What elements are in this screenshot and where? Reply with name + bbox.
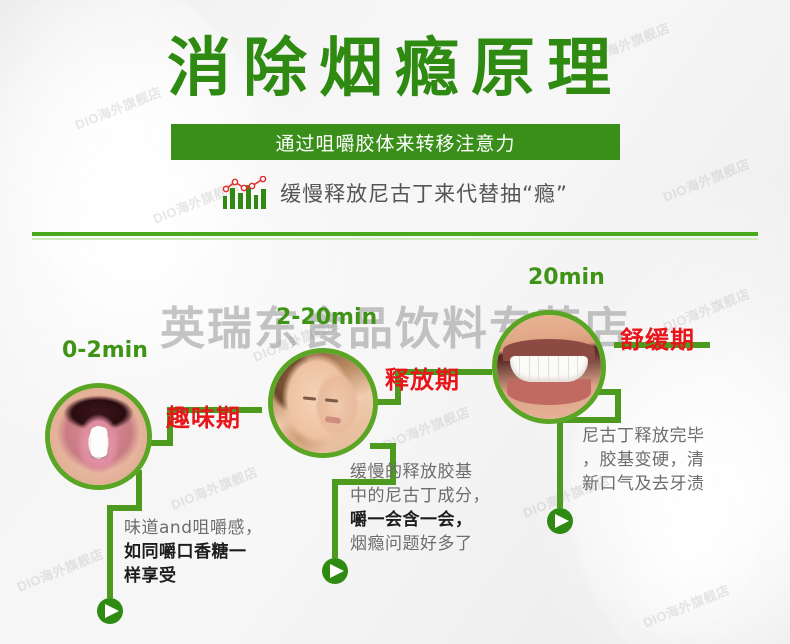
desc-line: 味道and咀嚼感， (124, 516, 304, 540)
desc-line: 样享受 (124, 564, 304, 588)
infographic-page: DIO海外旗舰店 DIO海外旗舰店 DIO海外旗舰店 DIO海外旗舰店 DIO海… (0, 0, 790, 644)
stage-1-phase-label: 趣味期 (166, 398, 241, 433)
desc-line: 缓慢的释放胶基 (350, 460, 530, 484)
desc-line: 新口气及去牙渍 (582, 472, 762, 496)
watermark-small: DIO海外旗舰店 (640, 579, 733, 631)
stage-3-time-label: 20min (528, 265, 605, 290)
divider-rule (32, 232, 758, 236)
page-title: 消除烟瘾原理 (0, 36, 790, 103)
divider-rule-soft (32, 238, 758, 240)
play-button-stage3 (547, 508, 573, 534)
stage-3-description: 尼古丁释放完毕 ，胶基变硬，清 新口气及去牙渍 (582, 424, 762, 496)
watermark-small: DIO海外旗舰店 (14, 543, 107, 595)
tagline-text: 缓慢释放尼古丁来代替抽“瘾” (280, 178, 568, 208)
eye (303, 396, 316, 400)
stage-2-phase-label: 释放期 (385, 360, 460, 395)
eye (325, 398, 338, 402)
stage-2-photo-circle (268, 348, 378, 458)
watermark-small: DIO海外旗舰店 (168, 461, 261, 513)
desc-line: 中的尼古丁成分， (350, 484, 530, 508)
desc-line: 尼古丁释放完毕 (582, 424, 762, 448)
smiling-teeth-photo (497, 315, 601, 419)
teeth (510, 356, 588, 382)
stage-1-photo-circle (45, 383, 152, 490)
stage-1-description: 味道and咀嚼感， 如同嚼口香糖一 样享受 (124, 516, 304, 588)
desc-line: 烟瘾问题好多了 (350, 532, 530, 556)
stage-2-description: 缓慢的释放胶基 中的尼古丁成分， 嚼一会含一会， 烟瘾问题好多了 (350, 460, 530, 557)
woman-relaxed-face-photo (273, 353, 373, 453)
stage-2-time-label: 2-20min (276, 305, 377, 330)
subtitle-banner: 通过咀嚼胶体来转移注意力 (171, 124, 620, 160)
lower-lip (507, 379, 591, 405)
play-button-stage2 (322, 558, 348, 584)
desc-line: 嚼一会含一会， (350, 508, 530, 532)
desc-line: ，胶基变硬，清 (582, 448, 762, 472)
watermark-small: DIO海外旗舰店 (380, 401, 473, 453)
tagline-row: 缓慢释放尼古丁来代替抽“瘾” (0, 176, 790, 210)
stage-3-phase-label: 舒缓期 (620, 320, 695, 355)
gum-piece (90, 427, 107, 457)
subtitle-text: 通过咀嚼胶体来转移注意力 (275, 129, 515, 156)
stage-3-photo-circle (492, 310, 606, 424)
desc-line: 如同嚼口香糖一 (124, 540, 304, 564)
play-button-stage1 (97, 598, 123, 624)
tongue-with-gum-photo (50, 388, 147, 485)
smoke-decoration (5, 65, 276, 374)
bar-line-chart-icon (222, 176, 268, 210)
lips (325, 416, 342, 424)
stage-1-time-label: 0-2min (62, 338, 148, 363)
